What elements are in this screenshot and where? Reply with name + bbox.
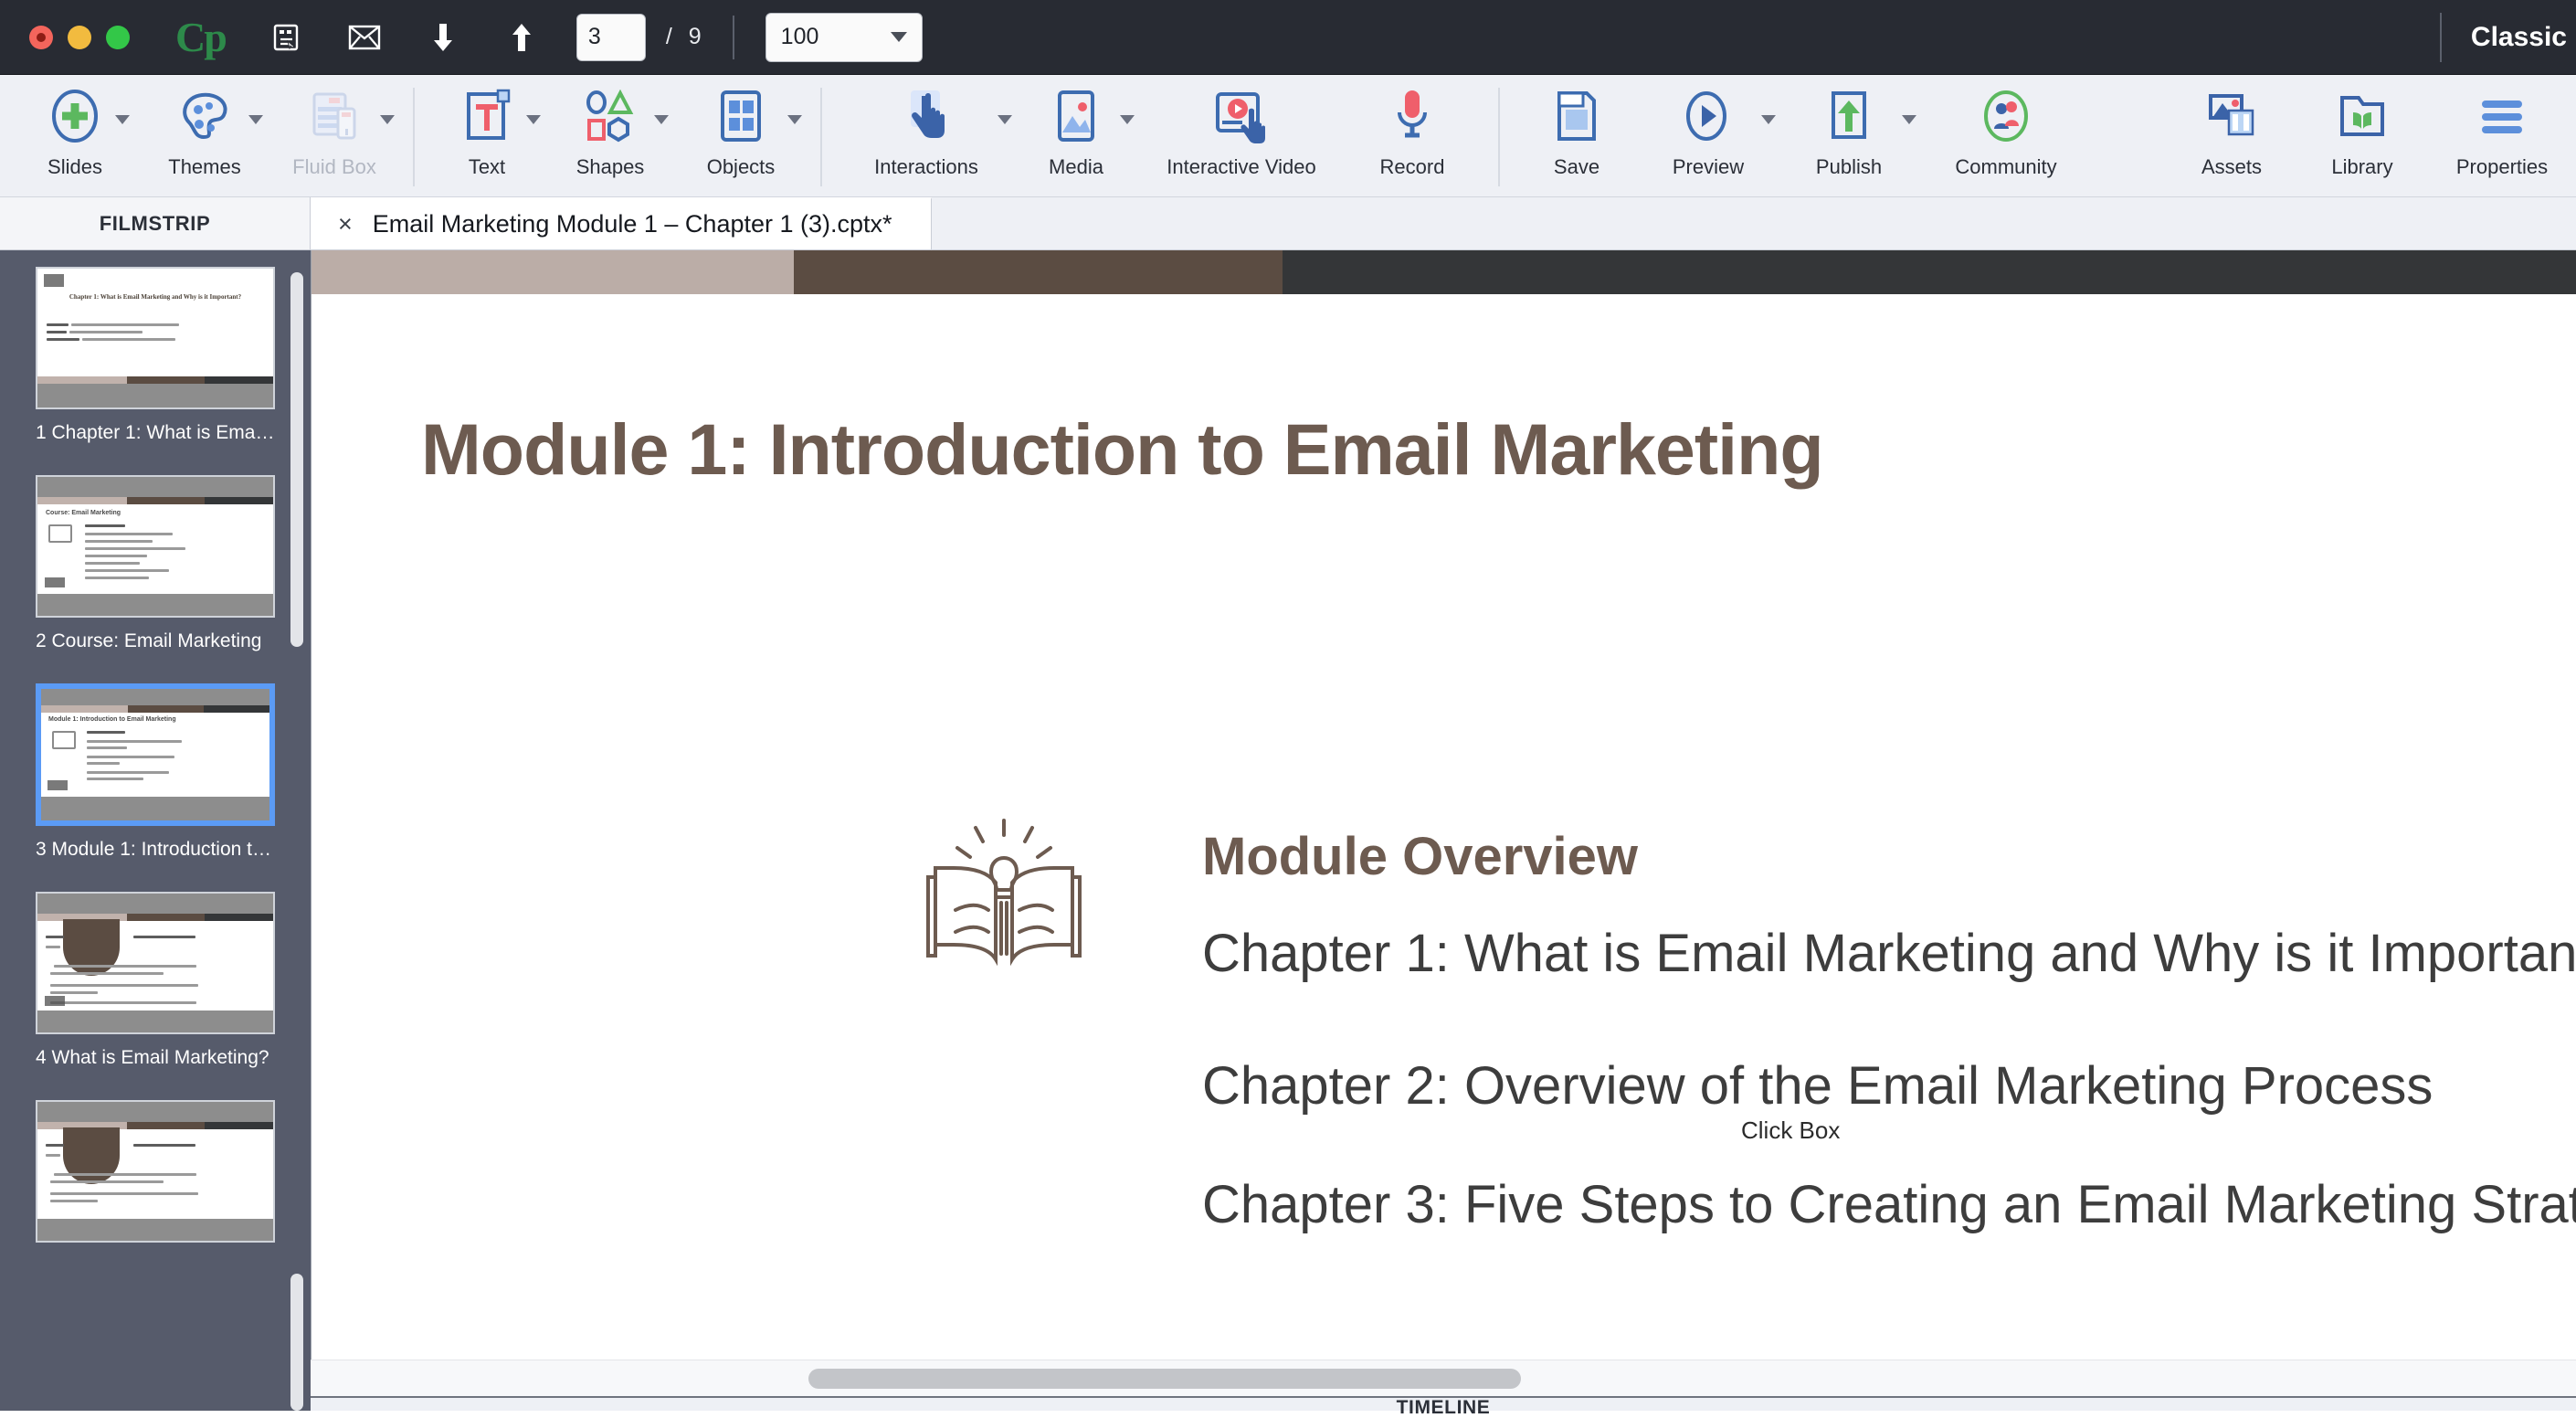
toolbar-label-interactive-video: Interactive Video	[1167, 155, 1315, 179]
slide-top-banner	[311, 250, 2576, 294]
community-users-icon	[1980, 88, 2032, 144]
chapter-3-text: Chapter 3: Five Steps to Creating an Ema…	[1202, 1175, 2576, 1236]
toolbar-label-interactions: Interactions	[874, 155, 978, 179]
filmstrip-slide-4[interactable]: 4 What is Email Marketing?	[36, 892, 275, 1069]
toolbar-label-assets: Assets	[2201, 155, 2262, 179]
chevron-down-icon[interactable]	[526, 115, 541, 124]
banner-band-1	[311, 250, 794, 294]
play-circle-icon	[1682, 88, 1735, 144]
toolbar-label-library: Library	[2331, 155, 2392, 179]
text-tool-icon	[461, 88, 512, 144]
slide-thumbnail[interactable]	[36, 1100, 275, 1243]
maximize-window-button[interactable]	[106, 26, 130, 49]
hamburger-icon	[2476, 88, 2528, 144]
plus-circle-icon	[48, 88, 102, 144]
toolbar-label-shapes: Shapes	[576, 155, 645, 179]
document-tab[interactable]: × Email Marketing Module 1 – Chapter 1 (…	[311, 197, 932, 249]
objects-grid-icon	[715, 88, 766, 144]
titlebar-divider	[733, 16, 734, 59]
move-up-icon[interactable]	[503, 19, 540, 56]
microphone-icon	[1392, 88, 1432, 144]
filmstrip-slide-5[interactable]	[36, 1100, 275, 1255]
thumb-title: Chapter 1: What is Email Marketing and W…	[37, 292, 273, 302]
slide-caption: 1 Chapter 1: What is Email …	[36, 422, 275, 444]
fluid-box-icon	[307, 88, 362, 144]
banner-band-3	[1283, 250, 2576, 294]
shapes-icon	[582, 88, 639, 144]
toolbar-item-slides[interactable]: Slides	[24, 75, 126, 197]
toolbar-item-text[interactable]: Text	[437, 75, 537, 197]
toolbar-item-preview[interactable]: Preview	[1644, 75, 1772, 197]
zoom-level-select[interactable]: 100	[765, 13, 923, 62]
slide-caption: 4 What is Email Marketing?	[36, 1047, 275, 1069]
chevron-down-icon[interactable]	[654, 115, 669, 124]
toolbar-label-slides: Slides	[48, 155, 102, 179]
current-slide-value: 3	[588, 24, 601, 50]
filmstrip-slide-2[interactable]: Course: Email Marketing 2 Course: Email …	[36, 475, 275, 652]
chevron-down-icon[interactable]	[1902, 115, 1916, 124]
close-window-button[interactable]	[29, 26, 53, 49]
toolbar-item-record[interactable]: Record	[1348, 75, 1476, 197]
publish-upload-icon	[1825, 88, 1873, 144]
total-slides-label: 9	[689, 24, 702, 50]
module-overview-heading: Module Overview	[1202, 826, 2576, 887]
slide-title-text[interactable]: Module 1: Introduction to Email Marketin…	[421, 407, 1823, 492]
toolbar-label-publish: Publish	[1816, 155, 1882, 179]
toolbar-item-objects[interactable]: Objects	[683, 75, 798, 197]
toolbar-label-text: Text	[469, 155, 505, 179]
thumb-title: Module 1: Introduction to Email Marketin…	[48, 716, 176, 723]
toolbar-label-preview: Preview	[1673, 155, 1744, 179]
toolbar-item-properties[interactable]: Properties	[2433, 75, 2571, 197]
toolbar-item-themes[interactable]: Themes	[150, 75, 259, 197]
email-icon[interactable]	[346, 19, 383, 56]
document-tab-title: Email Marketing Module 1 – Chapter 1 (3)…	[373, 210, 892, 238]
chevron-down-icon[interactable]	[248, 115, 263, 124]
filmstrip-slide-1[interactable]: Chapter 1: What is Email Marketing and W…	[36, 267, 275, 444]
toolbar-divider	[820, 88, 822, 186]
current-slide-input[interactable]: 3	[576, 14, 646, 61]
palette-icon	[176, 88, 233, 144]
move-down-icon[interactable]	[425, 19, 461, 56]
toolbar-item-community[interactable]: Community	[1926, 75, 2086, 197]
toolbar-label-save: Save	[1554, 155, 1599, 179]
toolbar-label-media: Media	[1049, 155, 1103, 179]
thumb-title: Course: Email Marketing	[46, 510, 121, 516]
timeline-label: TIMELINE	[1397, 1398, 1491, 1417]
chevron-down-icon	[891, 32, 907, 42]
library-folder-icon	[2337, 88, 2388, 144]
chevron-down-icon[interactable]	[115, 115, 130, 124]
scrollbar-thumb[interactable]	[808, 1369, 1521, 1389]
toolbar-item-interactions[interactable]: Interactions	[844, 75, 1008, 197]
chevron-down-icon[interactable]	[1761, 115, 1776, 124]
toolbar-item-publish[interactable]: Publish	[1785, 75, 1913, 197]
click-box-object[interactable]: Click Box	[1741, 1116, 1840, 1145]
toolbar-item-assets[interactable]: Assets	[2172, 75, 2291, 197]
mode-divider	[2440, 13, 2442, 62]
filmstrip-scrollbar-thumb[interactable]	[290, 272, 303, 647]
toolbar-divider	[413, 88, 415, 186]
assets-media-icon	[2205, 88, 2258, 144]
slide-body-text[interactable]: Module Overview Chapter 1: What is Email…	[1202, 826, 2576, 1278]
toolbar-label-objects: Objects	[707, 155, 776, 179]
slide-caption: 2 Course: Email Marketing	[36, 630, 275, 652]
slide-canvas[interactable]: Module 1: Introduction to Email Marketin…	[311, 250, 2576, 1360]
filmstrip-panel-tab[interactable]: FILMSTRIP	[0, 197, 311, 249]
panel-header-row: FILMSTRIP × Email Marketing Module 1 – C…	[0, 197, 2576, 250]
main-toolbar: Slides Themes	[0, 75, 2576, 197]
filmstrip-scrollbar-track[interactable]	[290, 1274, 303, 1411]
filmstrip-slide-3[interactable]: Module 1: Introduction to Email Marketin…	[36, 683, 275, 861]
toolbar-label-fluid-box: Fluid Box	[292, 155, 376, 179]
toolbar-item-shapes[interactable]: Shapes	[555, 75, 665, 197]
toolbar-item-media[interactable]: Media	[1021, 75, 1131, 197]
captivate-logo: Cp	[175, 16, 226, 58]
workspace-mode[interactable]: Classic	[2440, 13, 2576, 62]
floppy-save-icon	[1554, 88, 1599, 144]
image-media-icon	[1051, 88, 1101, 144]
open-book-lightbulb-icon[interactable]	[899, 815, 1109, 979]
chapter-2-text: Chapter 2: Overview of the Email Marketi…	[1202, 1056, 2576, 1117]
slide-thumbnail[interactable]	[36, 892, 275, 1034]
toolbar-item-save[interactable]: Save	[1522, 75, 1631, 197]
workspace-mode-label: Classic	[2471, 22, 2567, 53]
toolbar-label-record: Record	[1380, 155, 1445, 179]
window-controls[interactable]	[29, 26, 130, 49]
chevron-down-icon[interactable]	[1120, 115, 1135, 124]
hand-pointer-icon	[902, 88, 951, 144]
timeline-panel-header[interactable]: TIMELINE	[311, 1396, 2576, 1411]
toolbar-label-community: Community	[1955, 155, 2056, 179]
chevron-down-icon[interactable]	[380, 115, 395, 124]
zoom-level-value: 100	[781, 24, 819, 50]
filmstrip-panel[interactable]: Chapter 1: What is Email Marketing and W…	[0, 250, 311, 1411]
toolbar-item-interactive-video[interactable]: Interactive Video	[1144, 75, 1339, 197]
close-icon[interactable]: ×	[338, 212, 353, 237]
slide-thumbnail[interactable]: Course: Email Marketing	[36, 475, 275, 618]
banner-band-2	[794, 250, 1283, 294]
chevron-down-icon[interactable]	[787, 115, 802, 124]
title-bar: Cp 3 / 9 100 C	[0, 0, 2576, 75]
slide-thumbnail-selected[interactable]: Module 1: Introduction to Email Marketin…	[36, 683, 275, 826]
slide-caption: 3 Module 1: Introduction to…	[36, 839, 275, 861]
filmstrip-label: FILMSTRIP	[100, 212, 211, 236]
chevron-down-icon[interactable]	[998, 115, 1012, 124]
page-separator: /	[666, 24, 672, 50]
toolbar-label-properties: Properties	[2456, 155, 2548, 179]
slide-notes-icon[interactable]	[268, 19, 304, 56]
slide-thumbnail[interactable]: Chapter 1: What is Email Marketing and W…	[36, 267, 275, 409]
toolbar-item-fluid-box[interactable]: Fluid Box	[278, 75, 391, 197]
minimize-window-button[interactable]	[68, 26, 91, 49]
toolbar-divider	[1498, 88, 1500, 186]
toolbar-label-themes: Themes	[168, 155, 240, 179]
canvas-horizontal-scrollbar[interactable]	[311, 1360, 2576, 1396]
chapter-1-text: Chapter 1: What is Email Marketing and W…	[1202, 924, 2576, 985]
interactive-video-icon	[1212, 88, 1271, 144]
toolbar-item-library[interactable]: Library	[2304, 75, 2421, 197]
